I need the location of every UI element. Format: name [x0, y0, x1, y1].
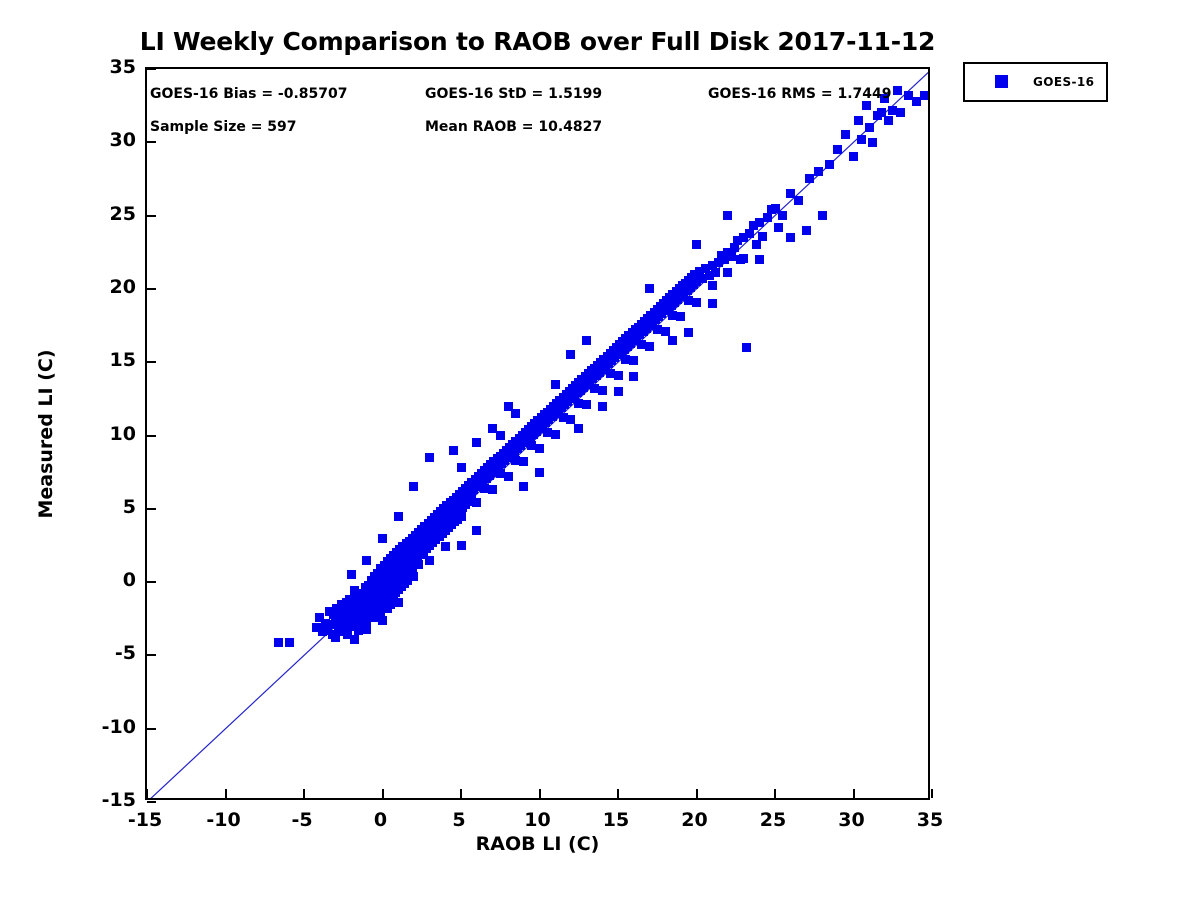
y-tick — [147, 141, 156, 143]
x-tick-label: -5 — [291, 809, 312, 831]
data-point — [425, 556, 434, 565]
data-point — [920, 91, 928, 100]
y-tick — [147, 361, 156, 363]
data-point — [805, 174, 814, 183]
y-tick-label: 5 — [123, 496, 136, 518]
data-point — [645, 284, 654, 293]
stat-std: GOES-16 StD = 1.5199 — [425, 86, 602, 102]
data-point — [896, 108, 905, 117]
stat-rms: GOES-16 RMS = 1.7449 — [708, 86, 892, 102]
x-tick-label: 15 — [603, 809, 629, 831]
data-point — [818, 211, 827, 220]
x-tick-label: 0 — [374, 809, 387, 831]
data-point — [488, 485, 497, 494]
data-point — [449, 446, 458, 455]
data-point — [862, 101, 871, 110]
data-point — [457, 541, 466, 550]
data-point — [347, 570, 356, 579]
data-point — [504, 472, 513, 481]
data-point — [378, 534, 387, 543]
data-point — [441, 542, 450, 551]
y-tick — [147, 801, 156, 803]
data-point — [676, 312, 685, 321]
data-point — [409, 482, 418, 491]
x-tick — [931, 789, 933, 798]
x-tick-label: -15 — [128, 809, 162, 831]
data-point — [752, 240, 761, 249]
y-tick — [147, 68, 156, 70]
y-axis-title: Measured LI (C) — [35, 349, 57, 518]
y-tick — [147, 581, 156, 583]
y-tick-label: 25 — [110, 203, 136, 225]
legend: GOES-16 — [963, 62, 1108, 102]
data-point — [598, 402, 607, 411]
data-point — [629, 372, 638, 381]
x-tick — [460, 789, 462, 798]
data-point — [472, 438, 481, 447]
data-point — [511, 409, 520, 418]
plot-canvas — [147, 69, 928, 798]
data-point — [668, 336, 677, 345]
data-point — [551, 430, 560, 439]
data-point — [457, 512, 466, 521]
data-point — [802, 226, 811, 235]
stat-bias: GOES-16 Bias = -0.85707 — [150, 86, 348, 102]
y-tick-label: 10 — [110, 423, 136, 445]
data-point — [285, 638, 294, 647]
data-point — [519, 482, 528, 491]
data-point — [409, 572, 418, 581]
data-point — [692, 240, 701, 249]
y-tick — [147, 288, 156, 290]
data-point — [723, 211, 732, 220]
data-point — [865, 123, 874, 132]
data-point — [629, 356, 638, 365]
x-tick — [617, 789, 619, 798]
y-tick-label: -5 — [115, 642, 136, 664]
x-tick — [853, 789, 855, 798]
x-tick — [539, 789, 541, 798]
data-point — [394, 598, 403, 607]
y-tick-label: 30 — [110, 129, 136, 151]
data-point — [414, 560, 423, 569]
data-point — [582, 400, 591, 409]
data-point — [582, 336, 591, 345]
data-point — [778, 211, 787, 220]
x-tick — [774, 789, 776, 798]
data-point — [645, 342, 654, 351]
data-point — [362, 625, 371, 634]
data-point — [758, 232, 767, 241]
data-point — [457, 463, 466, 472]
data-point — [794, 196, 803, 205]
data-point — [825, 160, 834, 169]
x-tick — [696, 789, 698, 798]
x-tick-label: 25 — [760, 809, 786, 831]
legend-label: GOES-16 — [1033, 75, 1094, 89]
data-point — [774, 223, 783, 232]
data-point — [472, 526, 481, 535]
y-tick — [147, 215, 156, 217]
data-point — [708, 299, 717, 308]
x-tick — [146, 789, 148, 798]
legend-swatch — [995, 75, 1008, 88]
plot-area — [145, 67, 930, 800]
data-point — [472, 498, 481, 507]
x-tick — [382, 789, 384, 798]
data-point — [378, 616, 387, 625]
data-point — [394, 512, 403, 521]
data-point — [755, 255, 764, 264]
chart-container: LI Weekly Comparison to RAOB over Full D… — [0, 0, 1200, 900]
y-tick-label: 0 — [123, 569, 136, 591]
data-point — [739, 254, 748, 263]
data-point — [350, 635, 359, 644]
data-point — [598, 386, 607, 395]
y-tick-label: 35 — [110, 56, 136, 78]
data-point — [566, 350, 575, 359]
y-tick — [147, 654, 156, 656]
chart-title: LI Weekly Comparison to RAOB over Full D… — [0, 27, 1075, 56]
stat-sample: Sample Size = 597 — [150, 119, 297, 135]
data-point — [854, 116, 863, 125]
y-tick — [147, 435, 156, 437]
data-point — [742, 343, 751, 352]
data-point — [574, 424, 583, 433]
y-tick-label: 20 — [110, 276, 136, 298]
data-point — [496, 431, 505, 440]
y-tick — [147, 508, 156, 510]
data-point — [893, 86, 902, 95]
data-point — [841, 130, 850, 139]
x-tick-label: 35 — [917, 809, 943, 831]
data-point — [684, 328, 693, 337]
y-tick-label: -10 — [102, 716, 136, 738]
data-point — [692, 298, 701, 307]
data-point — [519, 457, 528, 466]
x-tick — [225, 789, 227, 798]
x-tick-label: 20 — [681, 809, 707, 831]
data-point — [614, 371, 623, 380]
x-tick-label: 10 — [524, 809, 550, 831]
data-point — [551, 380, 560, 389]
x-tick-label: -10 — [206, 809, 240, 831]
data-point — [868, 138, 877, 147]
data-point — [849, 152, 858, 161]
data-point — [274, 638, 283, 647]
data-point — [614, 387, 623, 396]
data-point — [727, 252, 736, 261]
x-axis-title: RAOB LI (C) — [145, 833, 930, 855]
data-point — [708, 281, 717, 290]
y-tick-label: -15 — [102, 789, 136, 811]
x-tick — [303, 789, 305, 798]
data-point — [723, 268, 732, 277]
data-point — [711, 268, 720, 277]
x-tick-label: 30 — [838, 809, 864, 831]
x-tick-label: 5 — [452, 809, 465, 831]
data-point — [425, 453, 434, 462]
data-point — [857, 135, 866, 144]
data-point — [566, 415, 575, 424]
stat-mean: Mean RAOB = 10.4827 — [425, 119, 602, 135]
data-point — [833, 145, 842, 154]
data-point — [535, 444, 544, 453]
data-point — [884, 116, 893, 125]
y-tick-label: 15 — [110, 349, 136, 371]
data-point — [535, 468, 544, 477]
data-point — [814, 167, 823, 176]
data-point — [362, 556, 371, 565]
data-point — [661, 327, 670, 336]
y-tick — [147, 728, 156, 730]
data-point — [786, 233, 795, 242]
